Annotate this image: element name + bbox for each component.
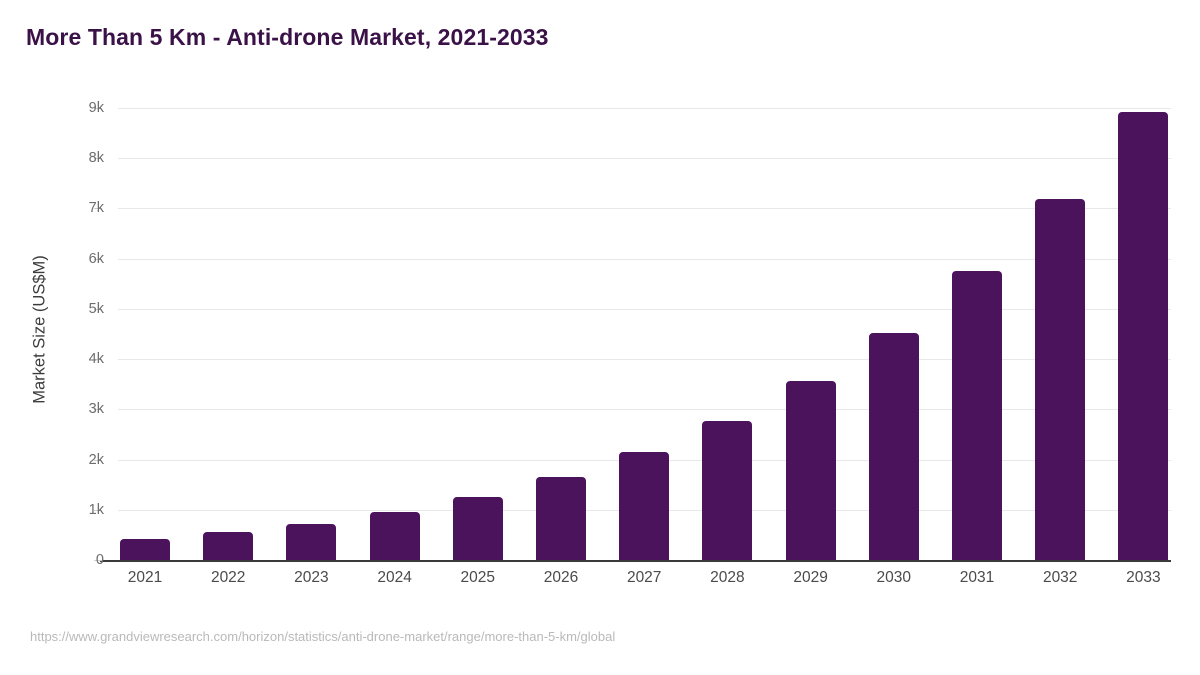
bar-2028[interactable]	[702, 421, 752, 560]
x-axis-tick-label: 2022	[211, 569, 245, 587]
bar-2024[interactable]	[370, 512, 420, 560]
chart-card: More Than 5 Km - Anti-drone Market, 2021…	[0, 0, 1200, 675]
source-url[interactable]: https://www.grandviewresearch.com/horizo…	[30, 629, 615, 644]
bar-2023[interactable]	[286, 524, 336, 560]
bar-series	[0, 0, 1200, 675]
plot-area: Market Size (US$M) 01k2k3k4k5k6k7k8k9k 2…	[0, 0, 1200, 675]
bar-2022[interactable]	[203, 532, 253, 560]
x-axis-tick-label: 2024	[377, 569, 411, 587]
x-axis-tick-label: 2025	[461, 569, 495, 587]
x-axis-tick-label: 2033	[1126, 569, 1160, 587]
x-axis-tick-label: 2030	[877, 569, 911, 587]
bar-2030[interactable]	[869, 333, 919, 560]
x-axis-tick-label: 2032	[1043, 569, 1077, 587]
x-axis-tick-label: 2026	[544, 569, 578, 587]
bar-2021[interactable]	[120, 539, 170, 560]
bar-2025[interactable]	[453, 497, 503, 560]
bar-2032[interactable]	[1035, 199, 1085, 560]
x-axis-tick-label: 2031	[960, 569, 994, 587]
bar-2027[interactable]	[619, 452, 669, 560]
x-axis-tick-label: 2023	[294, 569, 328, 587]
bar-2033[interactable]	[1118, 112, 1168, 560]
bar-2026[interactable]	[536, 477, 586, 560]
bar-2031[interactable]	[952, 271, 1002, 560]
bar-2029[interactable]	[786, 381, 836, 560]
x-axis-tick-label: 2028	[710, 569, 744, 587]
x-axis-tick-label: 2027	[627, 569, 661, 587]
x-axis-tick-label: 2029	[793, 569, 827, 587]
x-axis-tick-label: 2021	[128, 569, 162, 587]
